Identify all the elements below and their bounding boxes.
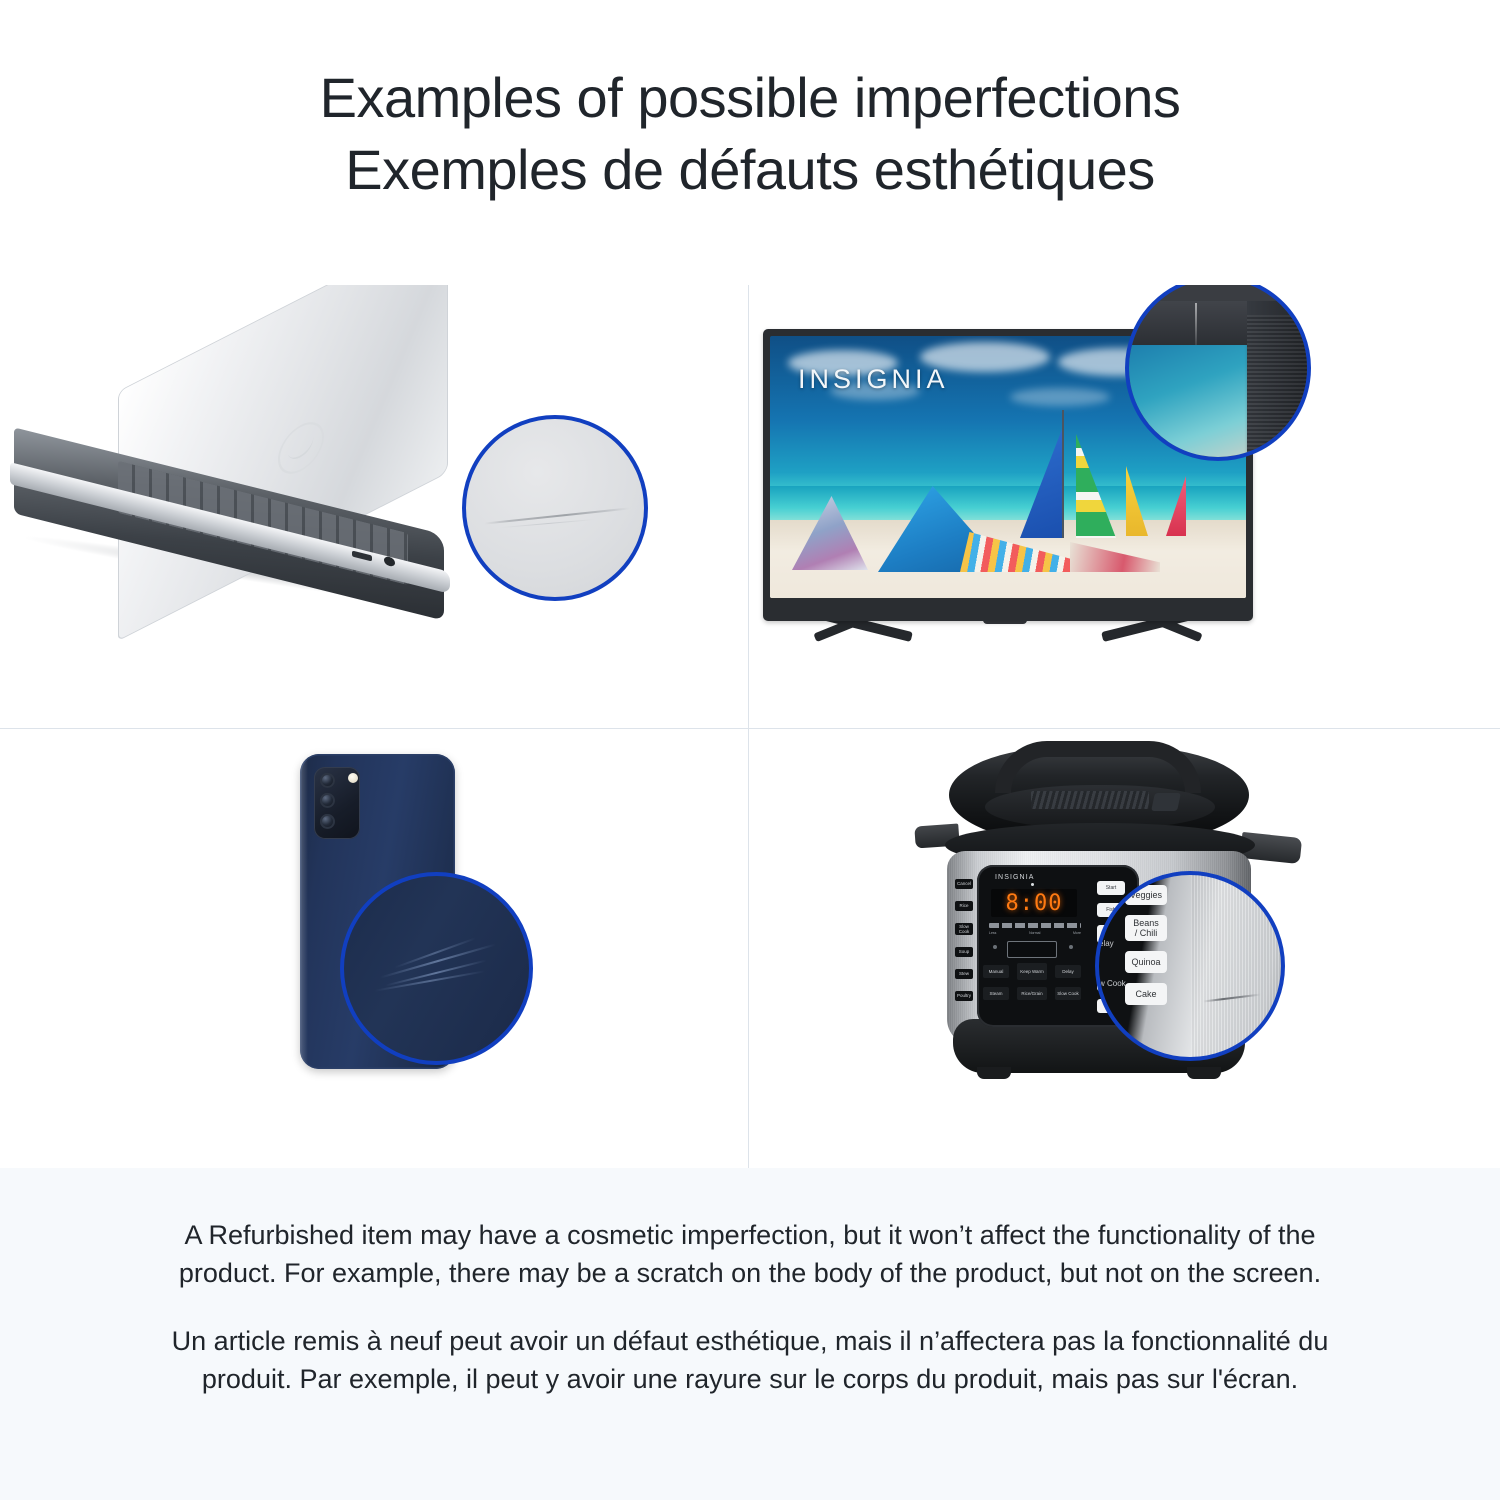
magnified-tv-bezel-texture [1247, 315, 1311, 461]
camera-lens-1-icon [320, 773, 335, 788]
phone-illustration [0, 729, 748, 1168]
cell-smartphone [0, 729, 748, 1168]
product-examples-grid: INSIGNIA [0, 285, 1500, 1168]
cooker-side-button-poultry[interactable]: Poultry [955, 991, 973, 1001]
cooker-side-button-soup[interactable]: Soup [955, 947, 973, 957]
magnified-button-cake: Cake [1125, 983, 1167, 1005]
magnified-tv-screen-area [1125, 341, 1249, 461]
footer-description: A Refurbished item may have a cosmetic i… [0, 1168, 1500, 1500]
cooker-plus-button[interactable] [1069, 945, 1073, 949]
cell-laptop [0, 285, 748, 728]
cooker-mode-strip [989, 923, 1081, 928]
cooker-button-keep-warm[interactable]: Keep Warm [1017, 963, 1047, 980]
sail-mast [1062, 410, 1064, 538]
phone-camera-module [314, 767, 360, 839]
magnified-button-delay: elay [1099, 939, 1114, 948]
magnifier-cooker-body-scratch: Veggies Beans/ Chili Quinoa Cake elay w … [1095, 871, 1285, 1061]
cooker-button-start[interactable]: Start [1097, 881, 1125, 895]
laptop-illustration [0, 285, 748, 728]
cooker-button-slow-cook[interactable]: Slow Cook [1055, 987, 1081, 1000]
refurbished-imperfections-infographic: Examples of possible imperfections Exemp… [0, 0, 1500, 1500]
cooker-button-steam[interactable]: Steam [983, 987, 1009, 1000]
phone-edge-highlight [300, 754, 308, 1069]
cell-pressure-cooker: INSIGNIA 8:00 LessNormalMore Manual [749, 729, 1500, 1168]
footer-text-english: A Refurbished item may have a cosmetic i… [170, 1168, 1330, 1292]
cooker-side-button-stew[interactable]: Stew [955, 969, 973, 979]
cooker-side-button-slow-cook[interactable]: Slow Cook [955, 923, 973, 935]
magnifier-tv-bezel-corner [1125, 285, 1311, 461]
magnified-button-quinoa: Quinoa [1125, 951, 1167, 973]
title-french: Exemples de défauts esthétiques [0, 134, 1500, 206]
page-title: Examples of possible imperfections Exemp… [0, 62, 1500, 206]
cooker-foot-right [1187, 1067, 1221, 1079]
magnifier-phone-back-scratches [340, 872, 533, 1065]
camera-flash-icon [348, 773, 358, 783]
cooker-foot-left [977, 1067, 1011, 1079]
cooker-mode-strip-labels: LessNormalMore [989, 931, 1081, 936]
magnified-button-veggies: Veggies [1125, 885, 1167, 905]
cooker-minus-button[interactable] [993, 945, 997, 949]
cloud-shape [1010, 388, 1110, 406]
title-english: Examples of possible imperfections [0, 62, 1500, 134]
camera-lens-2-icon [320, 793, 335, 808]
magnified-button-slow-cook: w Cook [1099, 979, 1126, 988]
magnified-button-beans-chili: Beans/ Chili [1125, 915, 1167, 941]
camera-lens-3-icon [320, 814, 335, 829]
cooker-brand-label: INSIGNIA [995, 874, 1035, 881]
cooker-button-rice-grain[interactable]: Rice/Grain [1017, 987, 1047, 1000]
cooker-pressure-selector[interactable] [1007, 941, 1057, 958]
cooker-led-display: 8:00 [991, 889, 1077, 917]
cooker-status-led-icon [1031, 883, 1034, 886]
cell-television: INSIGNIA [749, 285, 1500, 728]
tv-screen-brand-logo: INSIGNIA [798, 364, 949, 395]
cooker-side-button-rice[interactable]: Rice [955, 901, 973, 911]
cooker-display-value: 8:00 [1006, 891, 1063, 916]
cooker-lid-label [1031, 791, 1149, 809]
cooker-side-button-cancel[interactable]: Cancel [955, 879, 973, 889]
pressure-cooker-illustration: INSIGNIA 8:00 LessNormalMore Manual [749, 729, 1500, 1168]
cooker-button-delay[interactable]: Delay [1055, 965, 1081, 978]
magnifier-laptop-lid-scratch [462, 415, 648, 601]
cooker-lid-valve-icon [1151, 793, 1181, 811]
cooker-button-manual[interactable]: Manual [983, 965, 1009, 978]
tv-illustration: INSIGNIA [749, 285, 1500, 728]
tv-bezel-seam-mark [1195, 303, 1197, 345]
magnified-steel-texture [1191, 875, 1285, 1061]
footer-text-french: Un article remis à neuf peut avoir un dé… [170, 1292, 1330, 1398]
